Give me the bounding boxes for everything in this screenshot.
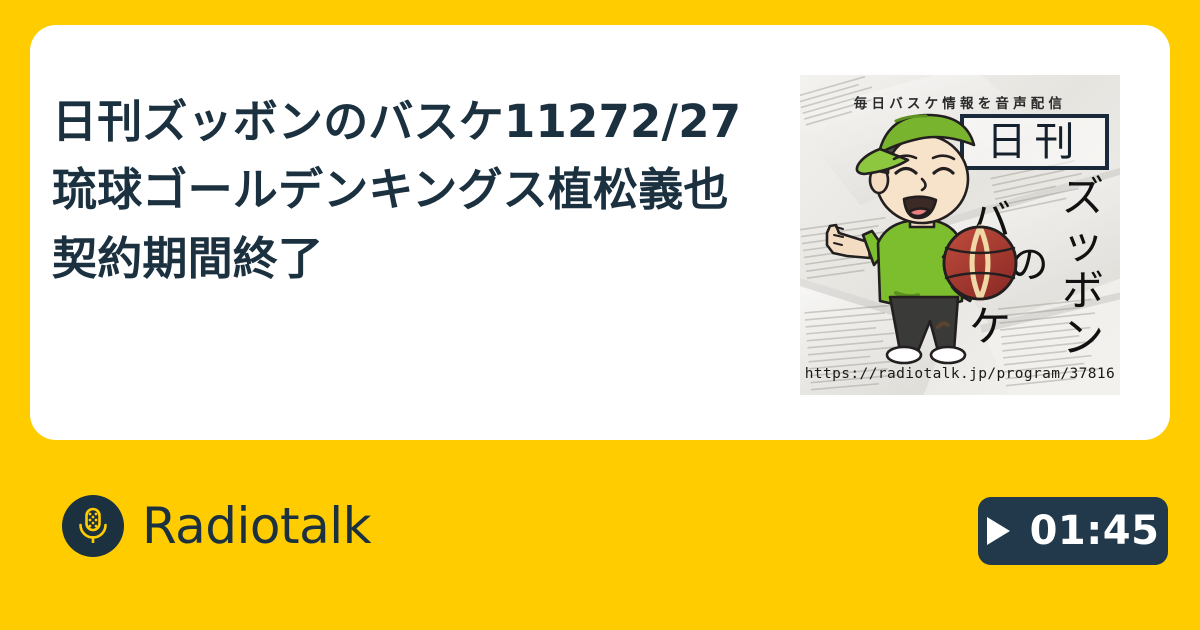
cover-art-illustration: 毎日バスケ情報を音声配信 日刊 ズ ッ ボ ン の バ ス ケ — [800, 75, 1120, 395]
cover-url: https://radiotalk.jp/program/37816 — [805, 366, 1115, 382]
svg-text:ッ: ッ — [1062, 219, 1104, 268]
cover-tagline: 毎日バスケ情報を音声配信 — [854, 95, 1066, 112]
brand-lockup[interactable]: Radiotalk — [62, 495, 371, 557]
brand-name: Radiotalk — [142, 501, 371, 551]
duration-label: 01:45 — [1030, 511, 1160, 551]
svg-text:ボ: ボ — [1062, 266, 1104, 315]
episode-title: 日刊ズッボンのバスケ11272/27 琉球ゴールデンキングス植松義也契約期間終了 — [52, 88, 752, 293]
microphone-icon — [62, 495, 124, 557]
play-icon — [987, 517, 1010, 545]
svg-text:ケ: ケ — [969, 302, 1011, 351]
cover-art[interactable]: 毎日バスケ情報を音声配信 日刊 ズ ッ ボ ン の バ ス ケ — [800, 75, 1120, 395]
svg-text:ン: ン — [1062, 313, 1104, 362]
svg-text:日刊: 日刊 — [987, 119, 1083, 165]
svg-text:ズ: ズ — [1062, 172, 1104, 221]
cover-nikkan-badge: 日刊 — [962, 116, 1107, 168]
play-duration-badge[interactable]: 01:45 — [978, 497, 1168, 565]
